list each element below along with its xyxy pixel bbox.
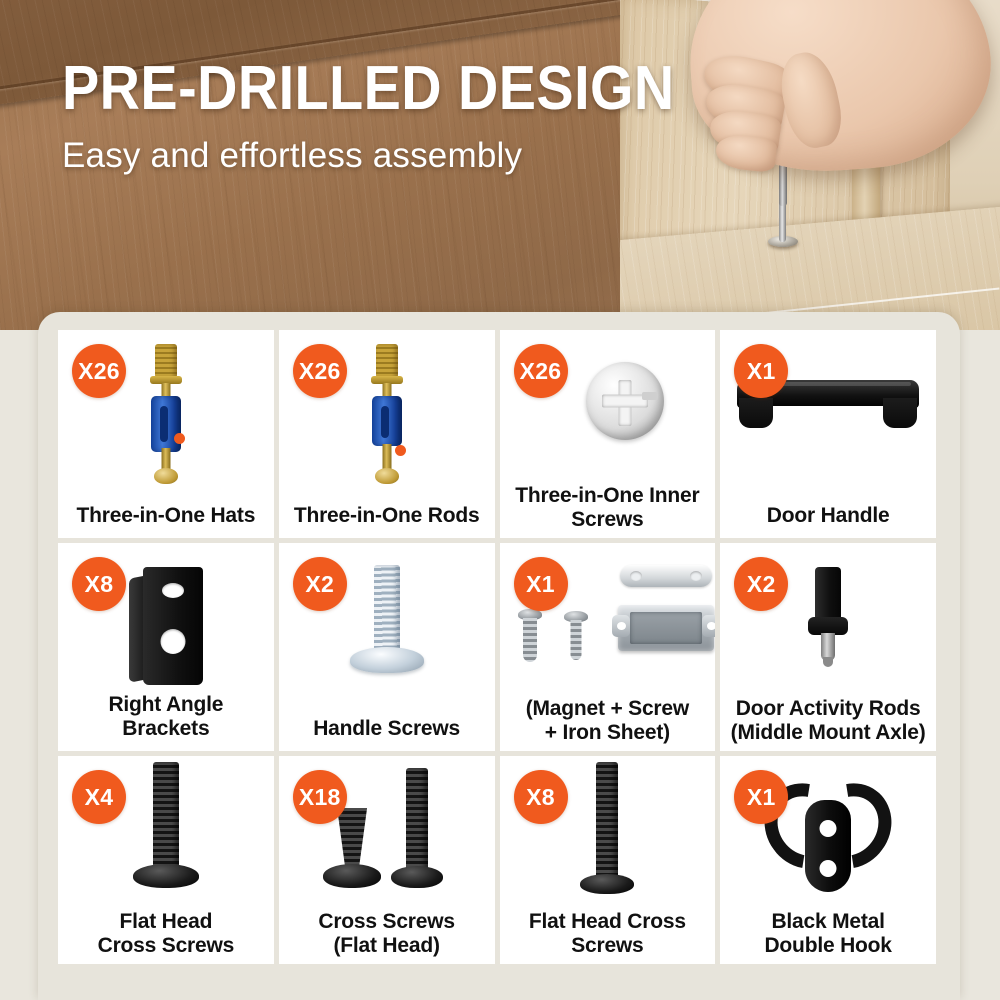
parts-list-panel: X26 Three-in-One Hats X26 Three-in-One R… [38,312,960,1000]
part-card-handle-screws: X2 Handle Screws [279,543,495,751]
quantity-badge: X2 [734,557,788,611]
part-label-line2: (Flat Head) [333,934,439,957]
quantity-badge: X1 [734,344,788,398]
part-card-magnet-kit: X1 (Magnet + Screw + Iron Sheet) [500,543,716,751]
iron-strike-plate-icon [620,565,712,587]
part-label: Three-in-One Rods [285,504,489,528]
quantity-badge: X26 [72,344,126,398]
part-label-line1: (Magnet + Screw [526,697,689,720]
part-label: Right Angle Brackets [64,693,268,741]
part-label: Cross Screws (Flat Head) [285,910,489,958]
quantity-badge: X18 [293,770,347,824]
part-label: Black Metal Double Hook [726,910,930,958]
part-card-right-angle-brackets: X8 Right Angle Brackets [58,543,274,751]
part-card-long-flat-head-cross-screws: X8 Flat Head Cross Screws [500,756,716,964]
part-card-cross-screws-flat-head: X18 Cross Screws (Flat Head) [279,756,495,964]
part-label: Handle Screws [285,717,489,741]
part-label-line1: Cross Screws [318,910,455,933]
quantity-badge: X8 [514,770,568,824]
part-label: Three-in-One Inner Screws [506,484,710,532]
part-card-door-handle: X1 Door Handle [720,330,936,538]
part-card-double-hook: X1 Black Metal Double Hook [720,756,936,964]
part-label-line2: + Iron Sheet) [545,721,670,744]
part-label-line2: Double Hook [764,934,891,957]
quantity-badge: X2 [293,557,347,611]
part-card-three-in-one-rods: X26 Three-in-One Rods [279,330,495,538]
short-tapered-screw-icon [337,808,367,870]
part-card-flat-head-cross-screws: X4 Flat Head Cross Screws [58,756,274,964]
part-label-line1: Flat Head [120,910,213,933]
quantity-badge: X26 [514,344,568,398]
part-label-line1: Black Metal [771,910,884,933]
parts-grid: X26 Three-in-One Hats X26 Three-in-One R… [58,330,936,964]
quantity-badge: X1 [734,770,788,824]
part-label: Three-in-One Hats [64,504,268,528]
quantity-badge: X1 [514,557,568,611]
quantity-badge: X8 [72,557,126,611]
part-label-line2: Screws [571,508,643,531]
part-card-three-in-one-hats: X26 Three-in-One Hats [58,330,274,538]
magnet-catch-icon [618,605,714,651]
part-label-line1: Door Activity Rods [736,697,921,720]
quantity-badge: X4 [72,770,126,824]
part-label-line2: (Middle Mount Axle) [731,721,926,744]
part-card-door-activity-rods: X2 Door Activity Rods (Middle Mount Axle… [720,543,936,751]
part-label: Door Activity Rods (Middle Mount Axle) [726,697,930,745]
part-card-three-in-one-inner-screws: X26 Three-in-One Inner Screws [500,330,716,538]
page-subtitle: Easy and effortless assembly [62,137,522,176]
part-label: Flat Head Cross Screws [506,910,710,958]
quantity-badge: X26 [293,344,347,398]
part-label-line1: Three-in-One Inner [515,484,699,507]
part-label-line2: Screws [571,934,643,957]
part-label: (Magnet + Screw + Iron Sheet) [506,697,710,745]
part-label-line2: Cross Screws [98,934,235,957]
part-label: Flat Head Cross Screws [64,910,268,958]
part-label-line1: Flat Head Cross [529,910,686,933]
part-label: Door Handle [726,504,930,528]
infographic-root: PRE-DRILLED DESIGN Easy and effortless a… [0,0,1000,1000]
page-title: PRE-DRILLED DESIGN [62,58,675,120]
